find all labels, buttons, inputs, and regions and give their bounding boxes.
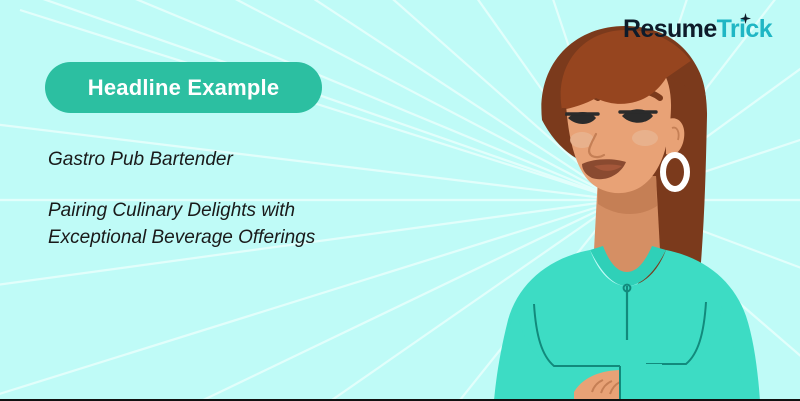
logo-text-resume: Resume: [623, 15, 717, 43]
job-title-text: Gastro Pub Bartender: [48, 148, 448, 172]
woman-portrait-illustration: [470, 0, 800, 401]
resume-headline-banner: ResumeTrick Headline Example Gastro Pub …: [0, 0, 800, 401]
tagline-line-1: Pairing Culinary Delights with: [48, 197, 348, 225]
badge-label: Headline Example: [88, 75, 280, 101]
tagline-line-2: Exceptional Beverage Offerings: [48, 224, 348, 252]
blush-right: [632, 130, 658, 146]
star-icon: [740, 13, 751, 24]
headline-example-badge[interactable]: Headline Example: [45, 62, 322, 113]
shirt-cuff: [620, 364, 662, 401]
tagline-text: Pairing Culinary Delights with Exception…: [48, 197, 348, 252]
headline-sample-text: Gastro Pub Bartender Pairing Culinary De…: [48, 148, 448, 252]
